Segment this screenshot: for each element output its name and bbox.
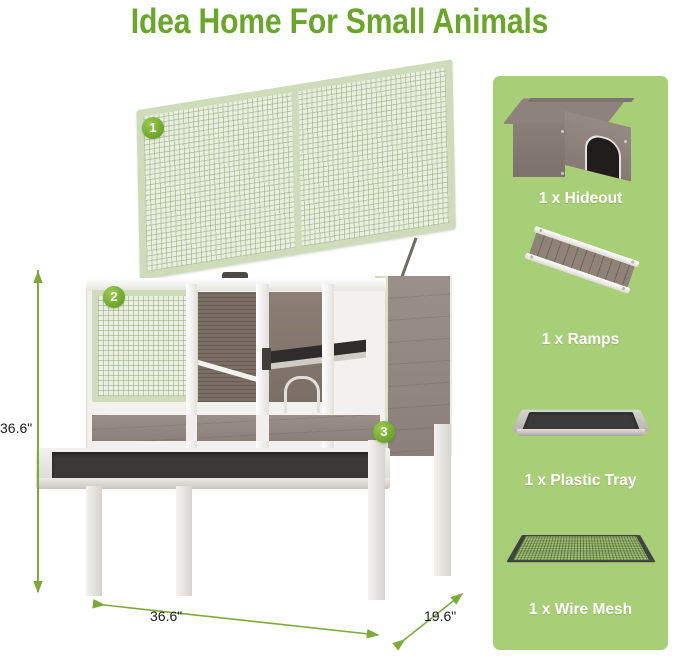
- depth-dimension-label: 19.6": [424, 608, 456, 624]
- interior-arch-opening: [284, 376, 320, 413]
- accessory-label-hideout: 1 x Hideout: [493, 190, 668, 208]
- accessories-panel: 1 x Hideout 1 x Ramps: [493, 76, 668, 650]
- callout-badge-3: 3: [373, 421, 395, 443]
- hutch-leg-front-right: [368, 440, 385, 600]
- product-illustration: 1 2 3 36.6": [0, 0, 493, 660]
- side-door-mesh-icon: [98, 296, 192, 396]
- plastic-tray-icon: [493, 372, 668, 468]
- accessory-item-wire-mesh: 1 x Wire Mesh: [493, 501, 668, 619]
- callout-badge-2: 2: [103, 286, 125, 308]
- accessory-label-plastic-tray: 1 x Plastic Tray: [493, 472, 668, 490]
- callout-badge-1: 1: [142, 117, 164, 139]
- hinged-mesh-lid: [136, 59, 455, 280]
- mesh-side-door: [92, 290, 198, 402]
- accessory-label-wire-mesh: 1 x Wire Mesh: [493, 601, 668, 619]
- ramp-icon: [493, 231, 668, 327]
- accessory-label-ramps: 1 x Ramps: [493, 331, 668, 349]
- pull-out-tray-well: [52, 452, 374, 478]
- width-dimension-label: 36.6": [150, 608, 182, 624]
- hutch-leg-front-left: [86, 486, 102, 596]
- hutch-lower-board-divider-left: [186, 415, 197, 441]
- accessory-item-plastic-tray: 1 x Plastic Tray: [493, 372, 668, 490]
- door-latch-icon: [262, 348, 271, 370]
- hutch-leg-front-mid: [176, 486, 192, 596]
- hutch-lower-board-divider-right: [256, 415, 269, 441]
- hutch-leg-rear-right: [434, 424, 451, 576]
- height-dimension-label: 36.6": [0, 420, 38, 436]
- hideout-icon: [493, 90, 668, 186]
- hutch-interior-mid-wall: [198, 292, 260, 402]
- infographic-root: Idea Home For Small Animals: [0, 0, 679, 660]
- wire-mesh-icon: [493, 501, 668, 597]
- accessory-item-ramps: 1 x Ramps: [493, 231, 668, 349]
- accessory-item-hideout: 1 x Hideout: [493, 90, 668, 208]
- hutch-lower-board: [92, 415, 380, 441]
